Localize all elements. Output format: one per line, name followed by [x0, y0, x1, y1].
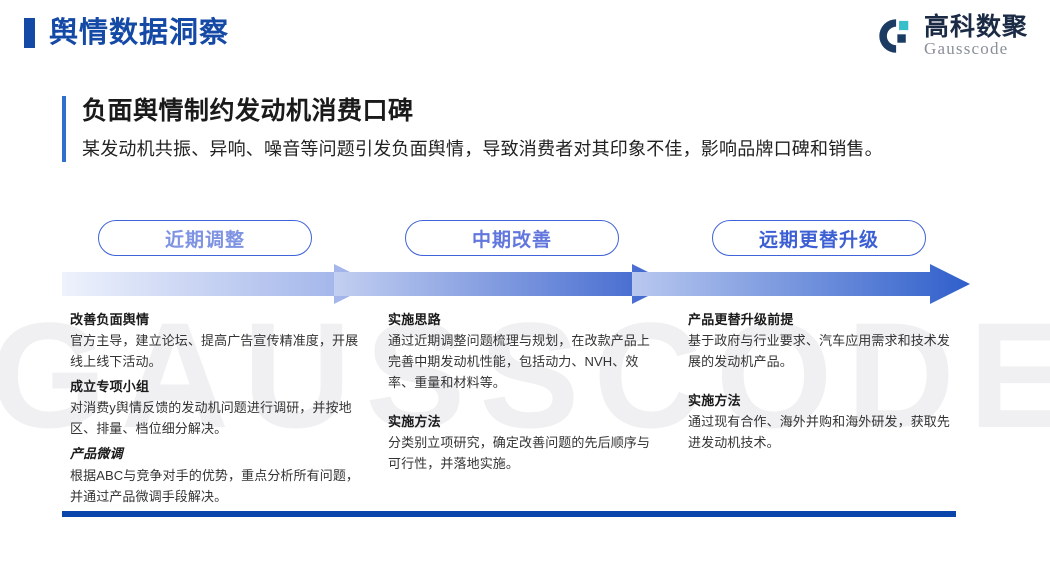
- block-heading: 产品更替升级前提: [688, 310, 952, 330]
- slide-header: 舆情数据洞察 高科数聚 Gausscode: [0, 0, 1050, 72]
- timeline-arrow-icon: [62, 263, 974, 305]
- block-body: 通过近期调整问题梳理与规划，在改款产品上完善中期发动机性能，包括动力、NVH、效…: [388, 330, 662, 393]
- content-block: 实施思路 通过近期调整问题梳理与规划，在改款产品上完善中期发动机性能，包括动力、…: [388, 310, 662, 393]
- gausscode-logo-mark-icon: [873, 15, 915, 57]
- block-heading: 成立专项小组: [70, 377, 362, 397]
- content-block: 实施方法 通过现有合作、海外并购和海外研发，获取先进发动机技术。: [688, 391, 952, 453]
- content-block: 产品更替升级前提 基于政府与行业要求、汽车应用需求和技术发展的发动机产品。: [688, 310, 952, 372]
- block-body: 分类别立项研究，确定改善问题的先后顺序与可行性，并落地实施。: [388, 432, 662, 474]
- stage-pill-mid-term[interactable]: 中期改善: [405, 220, 619, 256]
- block-body: 根据ABC与竞争对手的优势，重点分析所有问题，并通过产品微调手段解决。: [70, 465, 362, 507]
- content-block: 改善负面舆情 官方主导，建立论坛、提高广告宣传精准度，开展线上线下活动。: [70, 310, 362, 372]
- block-body: 通过现有合作、海外并购和海外研发，获取先进发动机技术。: [688, 411, 952, 453]
- stage-pill-group: 近期调整 中期改善 远期更替升级: [62, 220, 962, 258]
- page-title: 舆情数据洞察: [49, 19, 229, 48]
- block-heading: 实施方法: [688, 391, 952, 411]
- header-bullet-icon: [24, 18, 35, 48]
- logo-name-en: Gausscode: [924, 40, 1028, 59]
- content-block: 成立专项小组 对消费y舆情反馈的发动机问题进行调研，并按地区、排量、档位细分解决…: [70, 377, 362, 439]
- main-title: 负面舆情制约发动机消费口碑: [82, 96, 982, 127]
- content-block: 产品微调 根据ABC与竞争对手的优势，重点分析所有问题，并通过产品微调手段解决。: [70, 444, 362, 506]
- column-near-term: 改善负面舆情 官方主导，建立论坛、提高广告宣传精准度，开展线上线下活动。 成立专…: [62, 310, 384, 512]
- column-mid-term: 实施思路 通过近期调整问题梳理与规划，在改款产品上完善中期发动机性能，包括动力、…: [384, 310, 684, 512]
- title-block: 负面舆情制约发动机消费口碑 某发动机共振、异响、噪音等问题引发负面舆情，导致消费…: [62, 96, 982, 162]
- block-spacer: [388, 398, 662, 412]
- column-long-term: 产品更替升级前提 基于政府与行业要求、汽车应用需求和技术发展的发动机产品。 实施…: [684, 310, 974, 512]
- stage-pill-near-term[interactable]: 近期调整: [98, 220, 312, 256]
- block-spacer: [688, 377, 952, 391]
- block-heading: 改善负面舆情: [70, 310, 362, 330]
- header-title-group: 舆情数据洞察: [24, 18, 229, 48]
- stage-pill-long-term[interactable]: 远期更替升级: [712, 220, 926, 256]
- block-body: 官方主导，建立论坛、提高广告宣传精准度，开展线上线下活动。: [70, 330, 362, 372]
- brand-logo: 高科数聚 Gausscode: [873, 14, 1028, 59]
- content-columns: 改善负面舆情 官方主导，建立论坛、提高广告宣传精准度，开展线上线下活动。 成立专…: [62, 310, 974, 512]
- block-heading: 实施思路: [388, 310, 662, 330]
- timeline-arrow: [62, 263, 974, 305]
- block-heading: 实施方法: [388, 412, 662, 432]
- content-block: 实施方法 分类别立项研究，确定改善问题的先后顺序与可行性，并落地实施。: [388, 412, 662, 474]
- block-body: 对消费y舆情反馈的发动机问题进行调研，并按地区、排量、档位细分解决。: [70, 397, 362, 439]
- logo-text-group: 高科数聚 Gausscode: [924, 14, 1028, 59]
- footer-rule: [62, 511, 956, 517]
- block-heading: 产品微调: [70, 444, 362, 464]
- sub-title: 某发动机共振、异响、噪音等问题引发负面舆情，导致消费者对其印象不佳，影响品牌口碑…: [82, 137, 982, 161]
- block-body: 基于政府与行业要求、汽车应用需求和技术发展的发动机产品。: [688, 330, 952, 372]
- logo-name-cn: 高科数聚: [924, 14, 1028, 40]
